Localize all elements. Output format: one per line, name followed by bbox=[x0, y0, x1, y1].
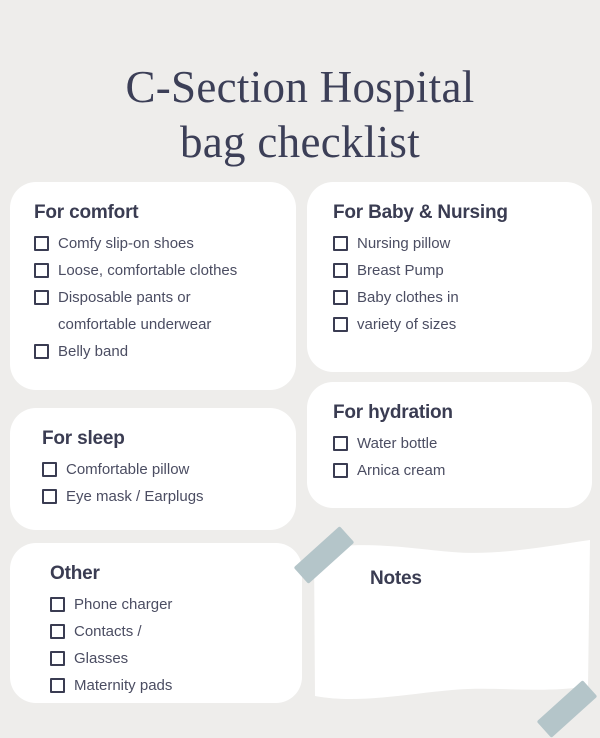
checklist-item-label: Comfortable pillow bbox=[66, 460, 282, 480]
checklist-item[interactable]: Arnica cream bbox=[333, 461, 578, 481]
checklist-item[interactable]: Eye mask / Earplugs bbox=[42, 487, 282, 507]
item-list-for-comfort: Comfy slip-on shoesLoose, comfortable cl… bbox=[34, 234, 282, 362]
checklist-item-label: Arnica cream bbox=[357, 461, 578, 481]
checkbox-icon[interactable] bbox=[34, 236, 49, 251]
checkbox-icon[interactable] bbox=[333, 463, 348, 478]
checklist-item-label: Disposable pants or bbox=[58, 288, 282, 308]
checklist-item[interactable]: Contacts / bbox=[50, 622, 288, 642]
checklist-item[interactable]: Phone charger bbox=[50, 595, 288, 615]
notes-title: Notes bbox=[370, 568, 422, 590]
checkbox-icon[interactable] bbox=[333, 263, 348, 278]
notes-paper[interactable]: Notes bbox=[312, 536, 592, 706]
checkbox-icon[interactable] bbox=[333, 317, 348, 332]
card-title-for-hydration: For hydration bbox=[333, 402, 578, 424]
item-list-for-sleep: Comfortable pillowEye mask / Earplugs bbox=[42, 460, 282, 507]
checklist-item[interactable]: variety of sizes bbox=[333, 315, 578, 335]
card-title-other: Other bbox=[50, 563, 288, 585]
checkbox-icon[interactable] bbox=[42, 489, 57, 504]
checklist-item-label: Eye mask / Earplugs bbox=[66, 487, 282, 507]
card-title-for-baby-and-nursing: For Baby & Nursing bbox=[333, 202, 578, 224]
checklist-item-label: Nursing pillow bbox=[357, 234, 578, 254]
checkbox-icon[interactable] bbox=[50, 624, 65, 639]
card-for-baby-and-nursing: For Baby & Nursing Nursing pillowBreast … bbox=[307, 182, 592, 372]
checklist-item[interactable]: Glasses bbox=[50, 649, 288, 669]
checklist-item-label: Phone charger bbox=[74, 595, 288, 615]
checkbox-icon[interactable] bbox=[50, 678, 65, 693]
page-title: C-Section Hospital bag checklist bbox=[0, 30, 600, 170]
checklist-board: For comfort Comfy slip-on shoesLoose, co… bbox=[0, 178, 600, 730]
checkbox-icon[interactable] bbox=[34, 344, 49, 359]
checklist-item-label: Glasses bbox=[74, 649, 288, 669]
checklist-item[interactable]: Water bottle bbox=[333, 434, 578, 454]
checkbox-spacer bbox=[34, 317, 49, 332]
notes-paper-shape bbox=[312, 536, 592, 706]
page-title-line-2: bag checklist bbox=[40, 115, 560, 170]
checkbox-icon[interactable] bbox=[333, 236, 348, 251]
checkbox-icon[interactable] bbox=[50, 597, 65, 612]
page-title-line-1: C-Section Hospital bbox=[40, 60, 560, 115]
item-list-other: Phone chargerContacts /GlassesMaternity … bbox=[50, 595, 288, 696]
checklist-item-label: Comfy slip-on shoes bbox=[58, 234, 282, 254]
item-list-for-hydration: Water bottleArnica cream bbox=[333, 434, 578, 481]
card-title-for-sleep: For sleep bbox=[42, 428, 282, 450]
card-title-for-comfort: For comfort bbox=[34, 202, 282, 224]
checklist-item-label: Water bottle bbox=[357, 434, 578, 454]
checklist-item-label: Contacts / bbox=[74, 622, 288, 642]
card-other: Other Phone chargerContacts /GlassesMate… bbox=[10, 543, 302, 703]
checklist-item-label: Maternity pads bbox=[74, 676, 288, 696]
checklist-item[interactable]: Baby clothes in bbox=[333, 288, 578, 308]
checklist-item-label: comfortable underwear bbox=[58, 315, 282, 335]
checkbox-icon[interactable] bbox=[34, 290, 49, 305]
checklist-item: comfortable underwear bbox=[34, 315, 282, 335]
checklist-item[interactable]: Disposable pants or bbox=[34, 288, 282, 308]
card-for-sleep: For sleep Comfortable pillowEye mask / E… bbox=[10, 408, 296, 530]
checkbox-icon[interactable] bbox=[42, 462, 57, 477]
checklist-item[interactable]: Maternity pads bbox=[50, 676, 288, 696]
checklist-item-label: Loose, comfortable clothes bbox=[58, 261, 282, 281]
checklist-item-label: Belly band bbox=[58, 342, 282, 362]
checklist-item[interactable]: Comfy slip-on shoes bbox=[34, 234, 282, 254]
item-list-for-baby-and-nursing: Nursing pillowBreast PumpBaby clothes in… bbox=[333, 234, 578, 335]
checkbox-icon[interactable] bbox=[333, 290, 348, 305]
checklist-item-label: Breast Pump bbox=[357, 261, 578, 281]
checklist-item[interactable]: Breast Pump bbox=[333, 261, 578, 281]
checklist-item-label: variety of sizes bbox=[357, 315, 578, 335]
checkbox-icon[interactable] bbox=[34, 263, 49, 278]
checklist-item-label: Baby clothes in bbox=[357, 288, 578, 308]
checkbox-icon[interactable] bbox=[50, 651, 65, 666]
checklist-item[interactable]: Nursing pillow bbox=[333, 234, 578, 254]
checklist-item[interactable]: Comfortable pillow bbox=[42, 460, 282, 480]
card-for-hydration: For hydration Water bottleArnica cream bbox=[307, 382, 592, 508]
card-for-comfort: For comfort Comfy slip-on shoesLoose, co… bbox=[10, 182, 296, 390]
checkbox-icon[interactable] bbox=[333, 436, 348, 451]
checklist-item[interactable]: Loose, comfortable clothes bbox=[34, 261, 282, 281]
checklist-item[interactable]: Belly band bbox=[34, 342, 282, 362]
